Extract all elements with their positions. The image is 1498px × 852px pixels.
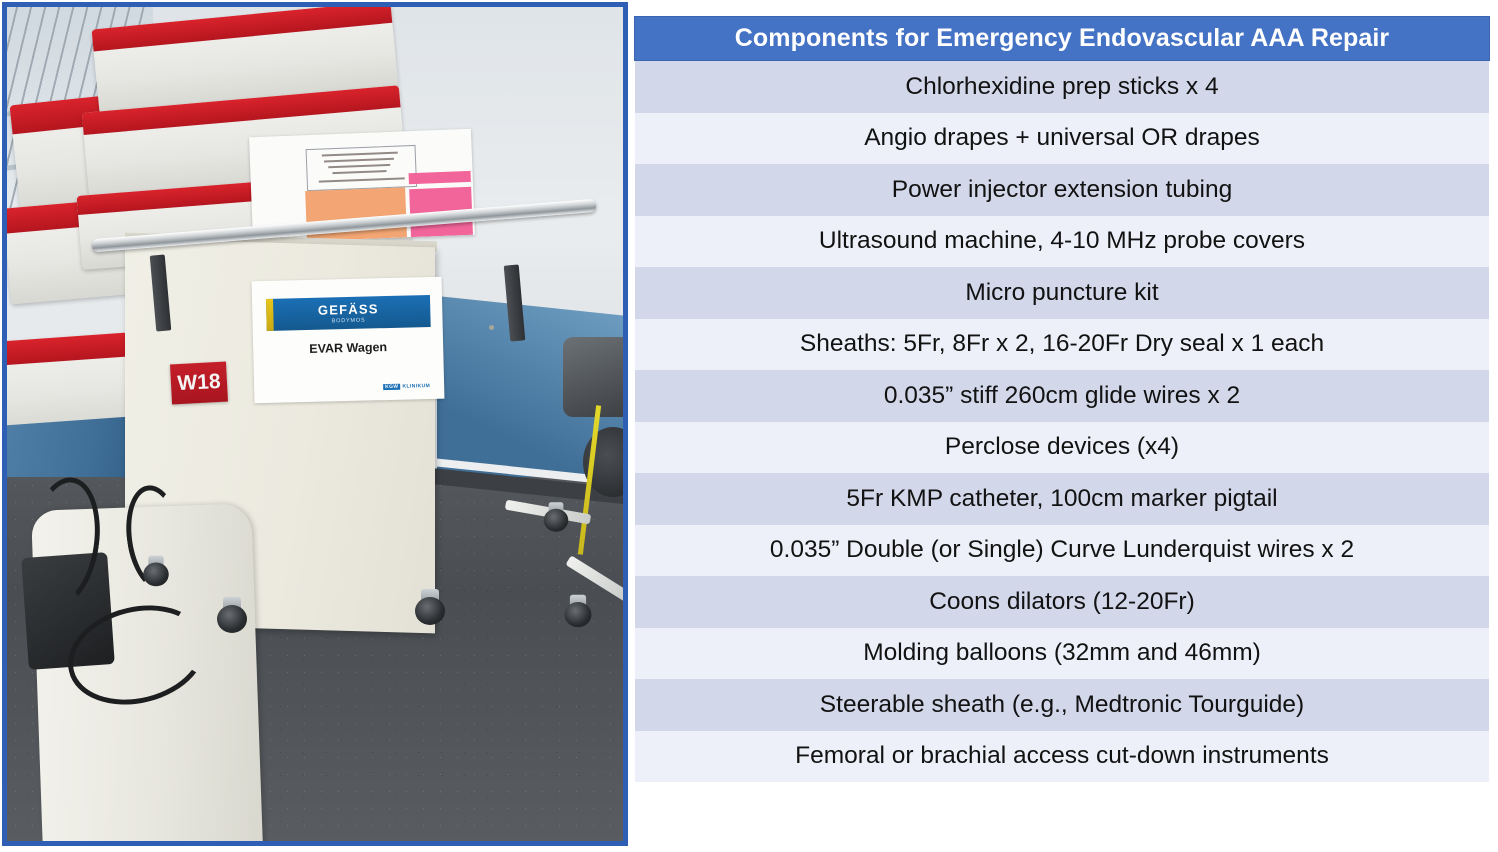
components-table: Components for Emergency Endovascular AA…: [634, 16, 1490, 834]
bay-location-tag: W18: [170, 362, 228, 405]
table-row: Femoral or brachial access cut-down inst…: [634, 731, 1490, 783]
checklist-top-box: [306, 145, 418, 191]
caster-wheel: [143, 563, 169, 587]
cart-screw: [489, 325, 494, 330]
component-label: 5Fr KMP catheter, 100cm marker pigtail: [846, 485, 1277, 513]
table-row: 0.035” stiff 260cm glide wires x 2: [634, 370, 1490, 422]
department-subtitle: BODYMOS: [332, 317, 366, 324]
component-label: Perclose devices (x4): [945, 433, 1179, 461]
caster-wheel: [415, 597, 445, 625]
table-row: 0.035” Double (or Single) Curve Lunderqu…: [634, 525, 1490, 577]
table-row: Ultrasound machine, 4-10 MHz probe cover…: [634, 216, 1490, 268]
evar-cart-photograph: GEFÄSS BODYMOS EVAR Wagen KGWKLINIKUM W1…: [2, 2, 628, 846]
table-title: Components for Emergency Endovascular AA…: [634, 16, 1490, 61]
component-label: Micro puncture kit: [965, 279, 1158, 307]
logo-mark: KGW: [383, 384, 401, 390]
component-label: 0.035” stiff 260cm glide wires x 2: [884, 382, 1240, 410]
cart-caster: [415, 589, 445, 625]
table-row: Perclose devices (x4): [634, 422, 1490, 474]
photo-scene: GEFÄSS BODYMOS EVAR Wagen KGWKLINIKUM W1…: [7, 7, 623, 841]
component-label: Steerable sheath (e.g., Medtronic Tourgu…: [820, 691, 1304, 719]
table-row: Angio drapes + universal OR drapes: [634, 113, 1490, 165]
logo-text: KLINIKUM: [402, 383, 430, 390]
component-label: Power injector extension tubing: [892, 176, 1232, 204]
component-label: Molding balloons (32mm and 46mm): [863, 639, 1261, 667]
caster-wheel: [217, 605, 247, 633]
department-banner: GEFÄSS BODYMOS: [266, 295, 431, 331]
component-label: Femoral or brachial access cut-down inst…: [795, 742, 1329, 770]
table-row: Power injector extension tubing: [634, 164, 1490, 216]
table-row: Steerable sheath (e.g., Medtronic Tourgu…: [634, 679, 1490, 731]
hospital-logo: KGWKLINIKUM: [383, 383, 430, 390]
figure-container: GEFÄSS BODYMOS EVAR Wagen KGWKLINIKUM W1…: [0, 0, 1498, 852]
equipment-housing: [563, 337, 623, 417]
component-label: Chlorhexidine prep sticks x 4: [905, 73, 1218, 101]
table-row: Coons dilators (12-20Fr): [634, 576, 1490, 628]
cart-name-label: EVAR Wagen: [253, 339, 443, 358]
component-label: Ultrasound machine, 4-10 MHz probe cover…: [819, 227, 1305, 255]
table-row: Micro puncture kit: [634, 267, 1490, 319]
caster-wheel: [565, 602, 592, 627]
equipment-caster: [565, 595, 592, 627]
component-label: 0.035” Double (or Single) Curve Lunderqu…: [770, 536, 1354, 564]
checklist-pink-bar: [409, 171, 471, 184]
table-row: Chlorhexidine prep sticks x 4: [634, 61, 1490, 113]
caster-wheel: [544, 509, 569, 532]
table-row: 5Fr KMP catheter, 100cm marker pigtail: [634, 473, 1490, 525]
cart-caster: [143, 556, 169, 587]
table-row: Sheaths: 5Fr, 8Fr x 2, 16-20Fr Dry seal …: [634, 319, 1490, 371]
table-row: Molding balloons (32mm and 46mm): [634, 628, 1490, 680]
cart-caster: [217, 597, 247, 633]
component-label: Coons dilators (12-20Fr): [929, 588, 1195, 616]
equipment-caster: [544, 502, 569, 532]
component-label: Angio drapes + universal OR drapes: [864, 124, 1260, 152]
cart-identification-sign: GEFÄSS BODYMOS EVAR Wagen KGWKLINIKUM: [252, 277, 445, 404]
department-name: GEFÄSS: [318, 302, 379, 316]
component-label: Sheaths: 5Fr, 8Fr x 2, 16-20Fr Dry seal …: [800, 330, 1324, 358]
table-body: Chlorhexidine prep sticks x 4Angio drape…: [634, 61, 1490, 782]
